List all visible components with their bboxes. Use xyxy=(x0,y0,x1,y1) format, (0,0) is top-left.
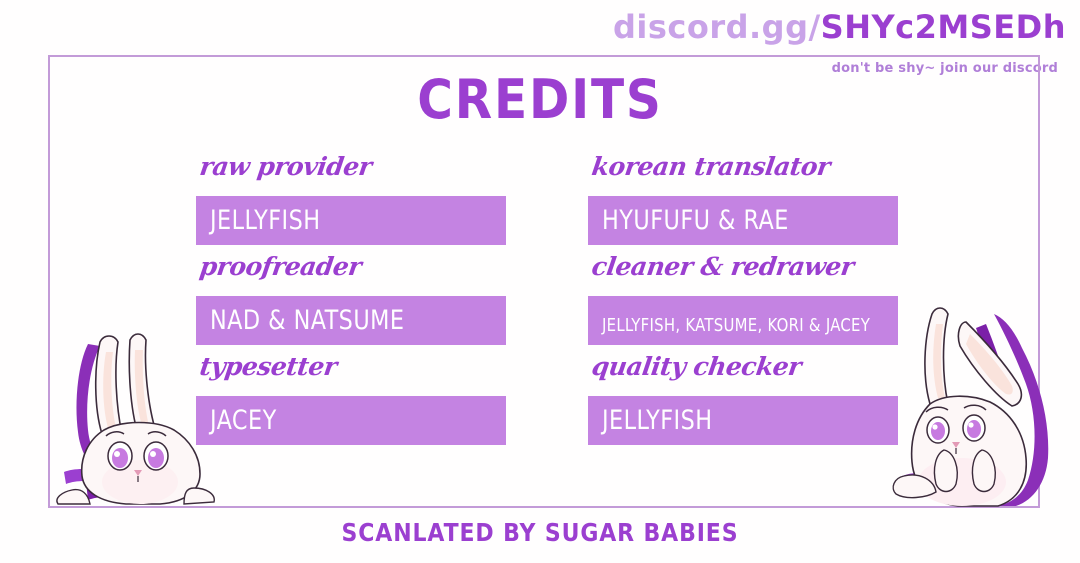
credit-entry-raw-provider: raw provider JELLYFISH xyxy=(196,152,506,252)
credit-name-value: JELLYFISH, KATSUME, KORI & JACEY xyxy=(602,307,870,345)
bunny-left-ears xyxy=(96,334,156,434)
credit-name-value: JELLYFISH xyxy=(602,402,713,440)
bunny-right-ears xyxy=(925,308,1021,406)
credit-role-label: proofreader xyxy=(198,252,363,281)
credit-name-value: JACEY xyxy=(210,402,277,440)
discord-domain-text: discord.gg/ xyxy=(613,8,821,46)
credit-role-label: cleaner & redrawer xyxy=(590,252,856,281)
credit-role-label: typesetter xyxy=(198,352,339,381)
credit-role-label: raw provider xyxy=(198,152,374,181)
credit-entry-quality-checker: quality checker JELLYFISH xyxy=(588,352,898,452)
credit-name-value: HYUFUFU & RAE xyxy=(602,202,789,240)
discord-invite-code: SHYc2MSEDh xyxy=(821,8,1066,46)
credit-name-value: JELLYFISH xyxy=(210,202,321,240)
credit-entry-proofreader: proofreader NAD & NATSUME xyxy=(196,252,506,352)
credit-entry-korean-translator: korean translator HYUFUFU & RAE xyxy=(588,152,898,252)
credit-entry-cleaner-redrawer: cleaner & redrawer JELLYFISH, KATSUME, K… xyxy=(588,252,898,352)
bunny-right-illustration xyxy=(890,300,1060,508)
credit-name-value: NAD & NATSUME xyxy=(210,302,404,340)
discord-invite-url[interactable]: discord.gg/SHYc2MSEDh xyxy=(613,8,1066,46)
bunny-right-body xyxy=(893,396,1026,506)
credit-role-label: korean translator xyxy=(590,152,832,181)
footer-scanlation-credit: SCANLATED BY SUGAR BABIES xyxy=(65,518,1015,547)
credits-grid: raw provider JELLYFISH proofreader NAD &… xyxy=(196,152,896,452)
credit-entry-typesetter: typesetter JACEY xyxy=(196,352,506,452)
page-title: CREDITS xyxy=(54,68,1026,131)
credit-role-label: quality checker xyxy=(590,352,803,381)
